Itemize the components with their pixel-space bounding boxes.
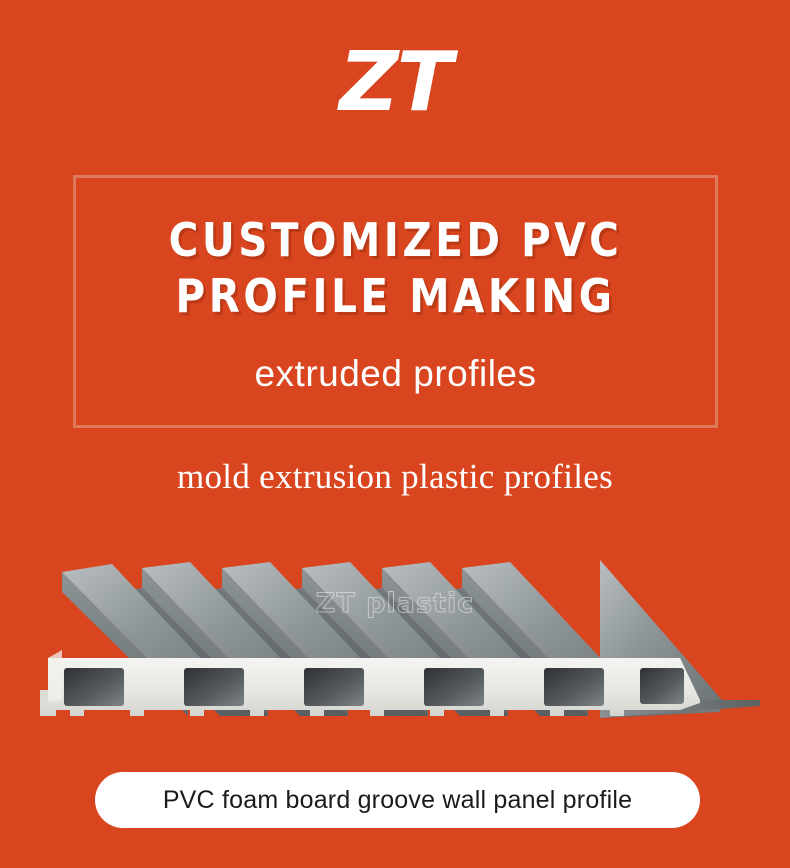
headline-line-1: CUSTOMIZED PVC bbox=[114, 212, 676, 268]
product-image bbox=[0, 540, 790, 755]
caption-pill: PVC foam board groove wall panel profile bbox=[95, 772, 700, 828]
profile-front-face bbox=[40, 658, 700, 716]
caption-text: PVC foam board groove wall panel profile bbox=[163, 786, 632, 815]
tagline: mold extrusion plastic profiles bbox=[0, 455, 790, 499]
headline-subtitle: extruded profiles bbox=[76, 352, 715, 396]
brand-logo: ZT bbox=[0, 42, 790, 124]
headline-line-2: PROFILE MAKING bbox=[114, 268, 676, 324]
headline: CUSTOMIZED PVC PROFILE MAKING bbox=[114, 212, 676, 324]
headline-frame: CUSTOMIZED PVC PROFILE MAKING extruded p… bbox=[73, 175, 718, 428]
product-banner: ZT CUSTOMIZED PVC PROFILE MAKING extrude… bbox=[0, 0, 790, 868]
